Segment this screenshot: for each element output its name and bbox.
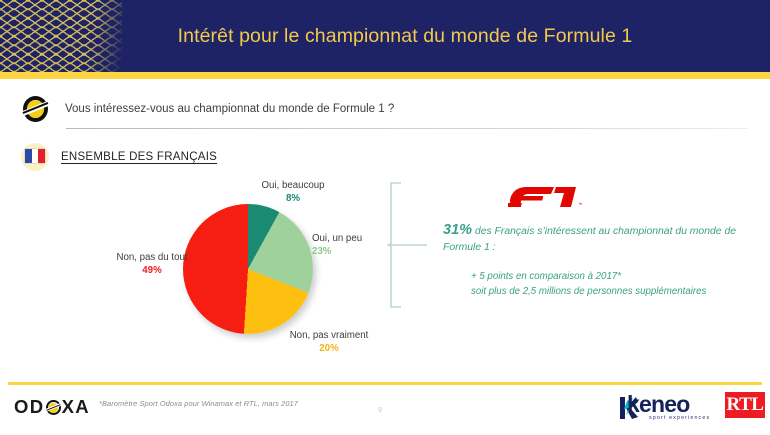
svg-text:™: ™: [578, 202, 583, 207]
keneo-wordmark: keneo: [627, 391, 689, 418]
callout-bracket-icon: [387, 182, 429, 308]
f1-logo: ™: [508, 183, 584, 211]
slide-header: Intérêt pour le championnat du monde de …: [0, 0, 770, 72]
segment-label: ENSEMBLE DES FRANÇAIS: [61, 151, 217, 163]
page-title: Intérêt pour le championnat du monde de …: [0, 0, 770, 72]
odoxa-logo-text-left: OD: [14, 396, 45, 418]
insight-line1: des Français s’intéressent au championna…: [475, 226, 722, 237]
pie-label-non-pas-vraiment: Non, pas vraiment 20%: [286, 330, 372, 355]
pie-chart-slices: [183, 204, 313, 334]
insight-sub2: soit plus de 2,5 millions de personnes s…: [471, 285, 743, 300]
pie-label-oui-beaucoup: Oui, beaucoup 8%: [238, 180, 348, 205]
keneo-tagline: sport experiences: [649, 415, 710, 421]
pie-label-oui-un-peu: Oui, un peu 23%: [312, 233, 394, 258]
pie-label-value: 49%: [110, 265, 194, 278]
question-divider: [66, 128, 748, 129]
keneo-logo: keneo sport experiences: [613, 393, 723, 423]
slide-root: Intérêt pour le championnat du monde de …: [0, 0, 770, 435]
rtl-logo: RTL: [725, 392, 765, 418]
question-text: Vous intéressez-vous au championnat du m…: [65, 103, 394, 115]
pie-label-non-pas-du-tout: Non, pas du tout 49%: [110, 252, 194, 277]
segment-row: ENSEMBLE DES FRANÇAIS: [20, 144, 217, 170]
odoxa-logo: OD XA: [14, 396, 90, 418]
insight-text: 31% des Français s’intéressent au champi…: [443, 222, 743, 299]
insight-stat: 31%: [443, 222, 472, 238]
pie-label-value: 8%: [238, 193, 348, 206]
header-gold-divider: [0, 72, 770, 79]
pie-label-text: Non, pas du tout: [116, 252, 187, 263]
pie-label-value: 23%: [312, 246, 394, 259]
pie-label-text: Oui, un peu: [312, 233, 362, 244]
source-note: *Baromètre Sport Odoxa pour Winamax et R…: [99, 399, 298, 408]
question-row: Vous intéressez-vous au championnat du m…: [22, 94, 394, 124]
odoxa-circle-icon: [22, 94, 49, 124]
rtl-wordmark: RTL: [727, 394, 764, 416]
french-flag-icon: [20, 144, 50, 170]
footer-gold-divider: [8, 382, 762, 385]
odoxa-logo-text-right: XA: [62, 396, 91, 418]
pie-chart: [183, 204, 319, 340]
odoxa-circle-icon: [46, 399, 61, 415]
page-number: 9: [378, 405, 382, 414]
pie-label-text: Oui, beaucoup: [261, 180, 324, 191]
pie-label-text: Non, pas vraiment: [290, 330, 369, 341]
pie-label-value: 20%: [286, 343, 372, 356]
insight-sub1: + 5 points en comparaison à 2017*: [471, 270, 743, 285]
